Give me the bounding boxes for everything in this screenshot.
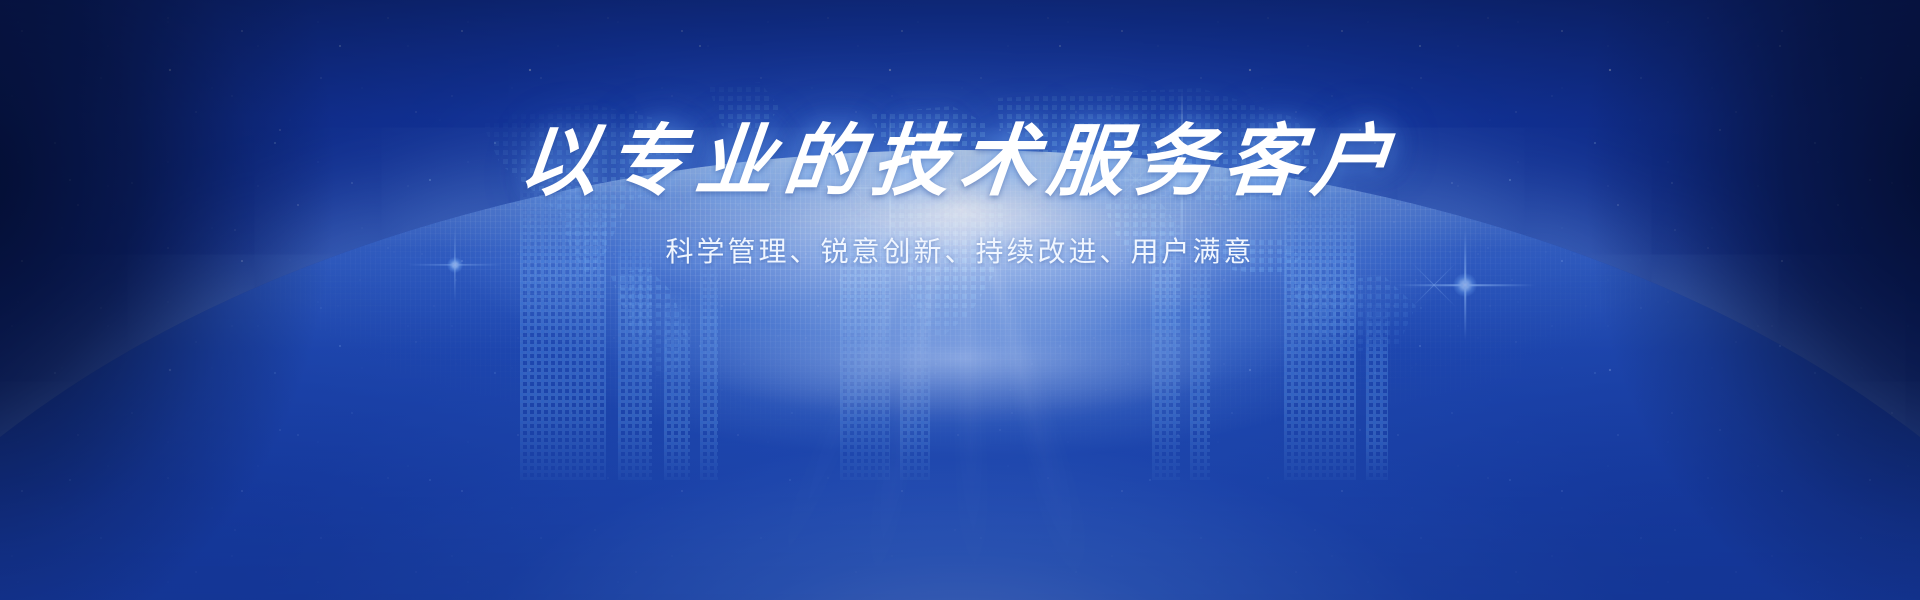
hero-banner: 以专业的技术服务客户 科学管理、锐意创新、持续改进、用户满意 [0, 0, 1920, 600]
banner-headline: 以专业的技术服务客户 [0, 120, 1920, 204]
banner-subline: 科学管理、锐意创新、持续改进、用户满意 [0, 230, 1920, 270]
hero-text-block: 以专业的技术服务客户 科学管理、锐意创新、持续改进、用户满意 [0, 120, 1920, 270]
